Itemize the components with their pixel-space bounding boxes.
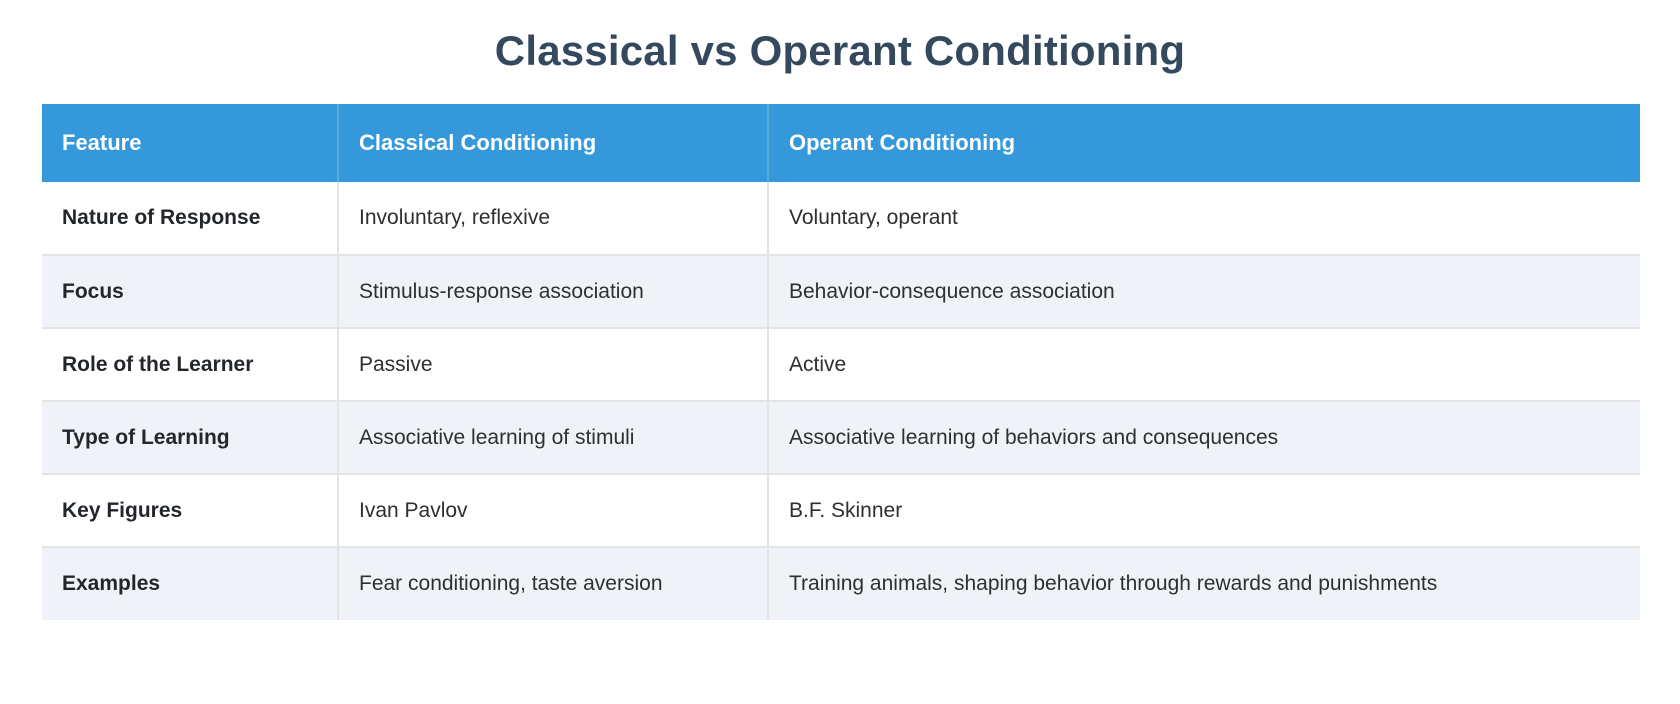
cell-operant: Training animals, shaping behavior throu… <box>768 547 1640 620</box>
table-row: Nature of Response Involuntary, reflexiv… <box>42 182 1640 255</box>
table-header: Feature Classical Conditioning Operant C… <box>42 104 1640 182</box>
cell-operant: Associative learning of behaviors and co… <box>768 401 1640 474</box>
table-row: Focus Stimulus-response association Beha… <box>42 255 1640 328</box>
table-row: Key Figures Ivan Pavlov B.F. Skinner <box>42 474 1640 547</box>
column-header-operant-conditioning[interactable]: Operant Conditioning <box>768 104 1640 182</box>
cell-feature: Key Figures <box>42 474 338 547</box>
cell-operant: Active <box>768 328 1640 401</box>
cell-classical: Stimulus-response association <box>338 255 768 328</box>
table-header-row: Feature Classical Conditioning Operant C… <box>42 104 1640 182</box>
cell-feature: Focus <box>42 255 338 328</box>
page-title: Classical vs Operant Conditioning <box>0 0 1680 76</box>
table-row: Examples Fear conditioning, taste aversi… <box>42 547 1640 620</box>
cell-classical: Associative learning of stimuli <box>338 401 768 474</box>
cell-classical: Passive <box>338 328 768 401</box>
cell-operant: B.F. Skinner <box>768 474 1640 547</box>
page-root: Classical vs Operant Conditioning Featur… <box>0 0 1680 704</box>
table-row: Role of the Learner Passive Active <box>42 328 1640 401</box>
comparison-table-container: Feature Classical Conditioning Operant C… <box>42 104 1640 620</box>
cell-feature: Role of the Learner <box>42 328 338 401</box>
column-header-feature[interactable]: Feature <box>42 104 338 182</box>
cell-feature: Type of Learning <box>42 401 338 474</box>
table-row: Type of Learning Associative learning of… <box>42 401 1640 474</box>
cell-operant: Behavior-consequence association <box>768 255 1640 328</box>
cell-feature: Examples <box>42 547 338 620</box>
comparison-table: Feature Classical Conditioning Operant C… <box>42 104 1640 620</box>
cell-classical: Fear conditioning, taste aversion <box>338 547 768 620</box>
table-body: Nature of Response Involuntary, reflexiv… <box>42 182 1640 620</box>
cell-classical: Ivan Pavlov <box>338 474 768 547</box>
cell-operant: Voluntary, operant <box>768 182 1640 255</box>
column-header-classical-conditioning[interactable]: Classical Conditioning <box>338 104 768 182</box>
cell-classical: Involuntary, reflexive <box>338 182 768 255</box>
cell-feature: Nature of Response <box>42 182 338 255</box>
